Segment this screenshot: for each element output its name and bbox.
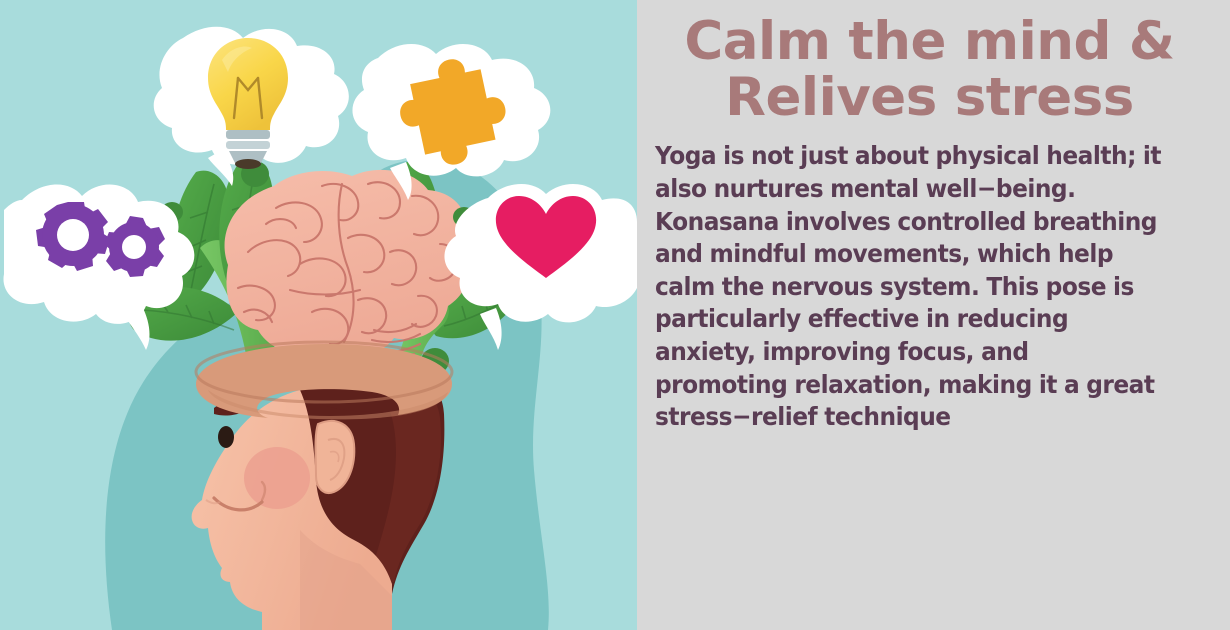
eye [218, 426, 234, 448]
text-panel: Calm the mind & Relives stress Yoga is n… [637, 0, 1230, 630]
illustration-panel [0, 0, 637, 630]
body-paragraph: Yoga is not just about physical health; … [655, 140, 1163, 434]
infographic-root: Calm the mind & Relives stress Yoga is n… [0, 0, 1230, 630]
page-title: Calm the mind & Relives stress [655, 14, 1204, 126]
head-with-brain-illustration [0, 0, 637, 630]
cheek-blush [244, 447, 310, 509]
